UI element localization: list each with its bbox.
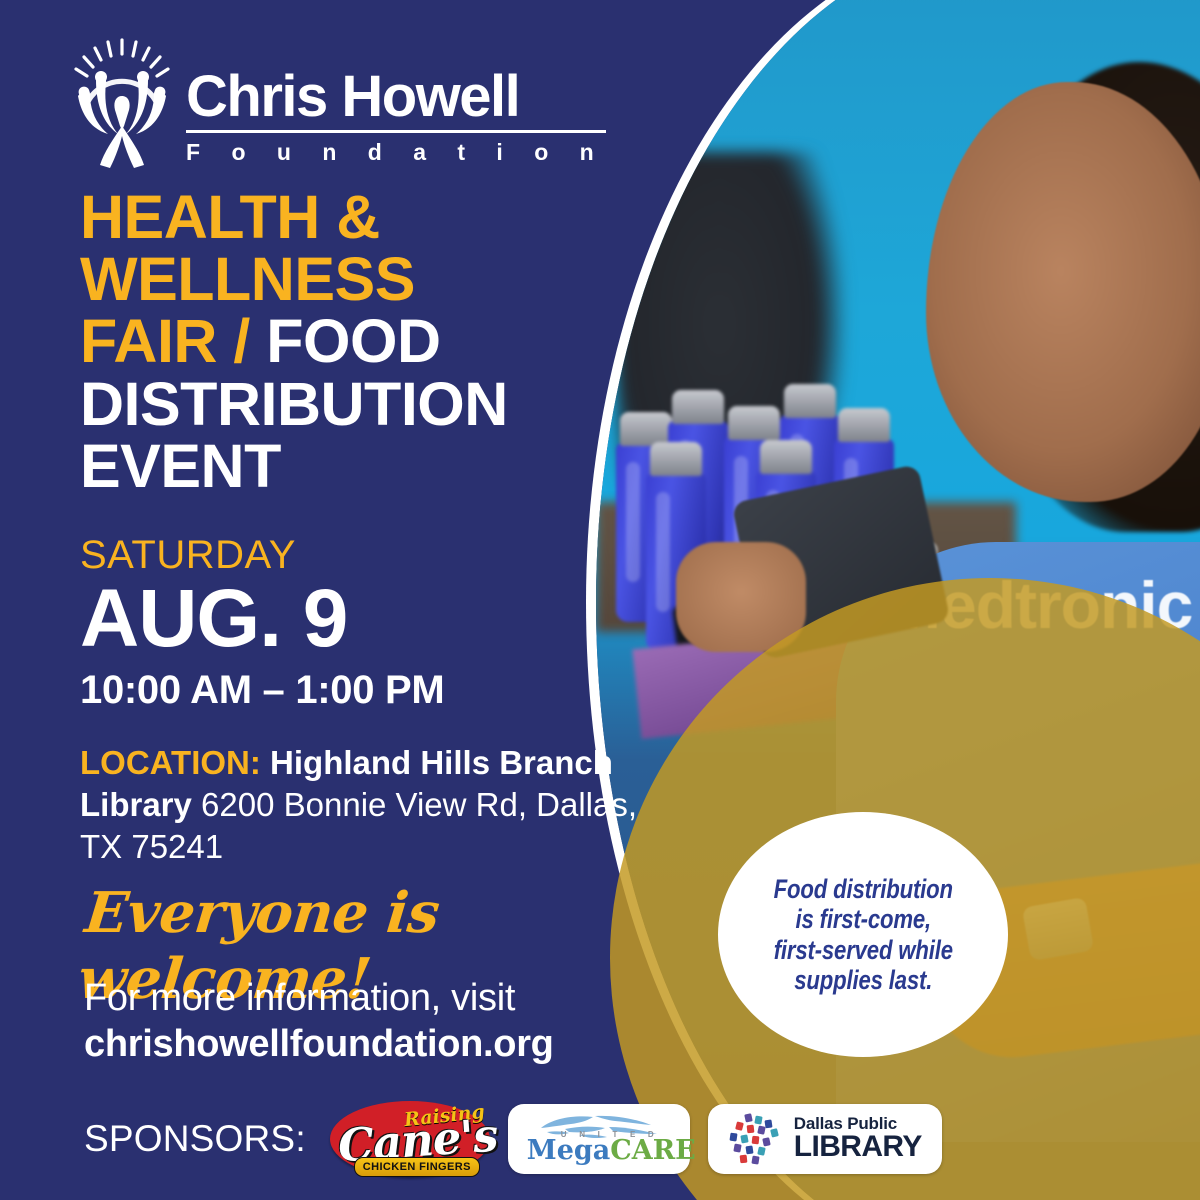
headline-line-3-gold: FAIR / [80,307,250,375]
first-come-badge-text: Food distribution is first-come, first-s… [767,874,959,995]
megacare-wordmark: MegaCARE [527,1137,696,1164]
foundation-logo-type: Chris Howell F o u n d a t i o n [186,70,606,166]
badge-line-1: Food distribution [773,874,952,904]
canes-tagline-banner: CHICKEN FINGERS [354,1157,480,1177]
foundation-name: Chris Howell [186,70,606,123]
event-day: SATURDAY [80,533,296,578]
badge-line-3: first-served while [773,935,952,965]
people-circle-ribbon-icon [68,34,176,169]
headline-line-3-white: FOOD [266,307,440,375]
headline-line-1: HEALTH & [80,183,380,251]
event-location: LOCATION: Highland Hills Branch Library … [80,742,640,869]
headline-line-5: EVENT [80,432,281,500]
more-information: For more information, visit chrishowellf… [84,975,644,1068]
headline-line-2: WELLNESS [80,245,415,313]
event-date: AUG. 9 [80,578,347,660]
sponsors-section: SPONSORS: Raising Cane's CHICKEN FINGERS [84,1095,942,1183]
library-mosaic-icon [728,1113,784,1165]
page-title: HEALTH & WELLNESS FAIR / FOOD DISTRIBUTI… [80,186,610,497]
first-come-badge: Food distribution is first-come, first-s… [718,812,1008,1057]
canes-tagline-text: CHICKEN FINGERS [363,1161,471,1173]
sponsors-label: SPONSORS: [84,1118,306,1160]
photo-subject-head [926,82,1200,502]
foundation-subtitle: F o u n d a t i o n [186,139,606,166]
logo-divider [186,130,606,133]
dpl-wordmark: Dallas Public LIBRARY [794,1115,922,1163]
sponsor-logo-raising-canes[interactable]: Raising Cane's CHICKEN FINGERS [330,1095,490,1183]
megacare-part-m: M [527,1135,557,1166]
megacare-part-care: CARE [610,1135,695,1166]
info-prefix: For more information, visit [84,977,515,1019]
badge-line-4: supplies last. [794,965,932,995]
megacare-part-ega: ega [557,1135,611,1166]
headline-line-4: DISTRIBUTION [80,370,508,438]
event-time: 10:00 AM – 1:00 PM [80,668,444,713]
dpl-line-2: LIBRARY [794,1132,922,1163]
sponsor-logo-dallas-public-library[interactable]: Dallas Public LIBRARY [708,1104,942,1174]
badge-line-2: is first-come, [795,904,931,934]
sponsor-logo-united-megacare[interactable]: U N I T E D MegaCARE [508,1104,690,1174]
website-url[interactable]: chrishowellfoundation.org [84,1023,554,1065]
foundation-logo: Chris Howell F o u n d a t i o n [68,34,606,169]
location-label: LOCATION: [80,744,261,781]
dpl-lockup: Dallas Public LIBRARY [728,1113,922,1165]
left-content-column: Chris Howell F o u n d a t i o n HEALTH … [0,0,640,1200]
flyer-canvas: Medtronic Food distribution is first-com… [0,0,1200,1200]
megacare-lockup: U N I T E D MegaCARE [521,1108,677,1170]
